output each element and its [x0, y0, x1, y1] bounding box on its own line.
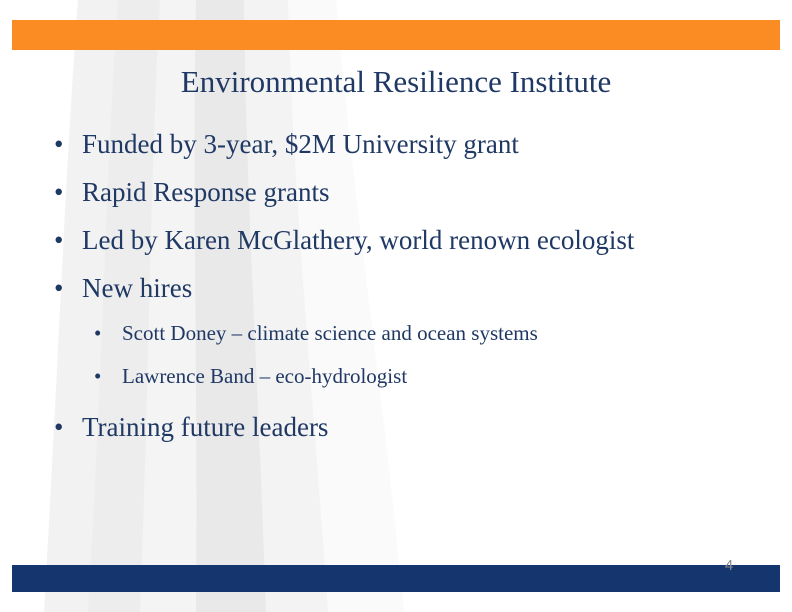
bullet-dot-icon: • [54, 224, 63, 257]
slide-body: • Funded by 3-year, $2M University grant… [50, 128, 750, 459]
list-item: • Rapid Response grants [50, 176, 750, 209]
bullet-dot-icon: • [54, 128, 63, 161]
header-accent-bar [12, 20, 780, 50]
bullet-dot-icon: • [94, 320, 101, 346]
list-item: • Funded by 3-year, $2M University grant [50, 128, 750, 161]
footer-bar [12, 565, 780, 592]
page-number: 4 [714, 557, 744, 574]
bullet-dot-icon: • [94, 363, 101, 389]
list-item-text: Training future leaders [82, 412, 328, 442]
list-item-text: New hires [82, 273, 192, 303]
bullet-dot-icon: • [54, 272, 63, 305]
page-title: Environmental Resilience Institute [46, 63, 746, 101]
list-item: • Led by Karen McGlathery, world renown … [50, 224, 750, 257]
list-item: • Lawrence Band – eco-hydrologist [50, 363, 750, 389]
presentation-slide: Environmental Resilience Institute • Fun… [0, 0, 792, 612]
list-item-text: Led by Karen McGlathery, world renown ec… [82, 225, 634, 255]
bullet-dot-icon: • [54, 176, 63, 209]
list-item-text: Rapid Response grants [82, 177, 329, 207]
bullet-dot-icon: • [54, 411, 63, 444]
list-item: • Training future leaders [50, 411, 750, 444]
list-item: • Scott Doney – climate science and ocea… [50, 320, 750, 346]
list-item: • New hires [50, 272, 750, 305]
list-item-text: Lawrence Band – eco-hydrologist [122, 364, 407, 388]
list-item-text: Scott Doney – climate science and ocean … [122, 321, 538, 345]
list-item-text: Funded by 3-year, $2M University grant [82, 129, 519, 159]
sub-list: • Scott Doney – climate science and ocea… [50, 320, 750, 389]
